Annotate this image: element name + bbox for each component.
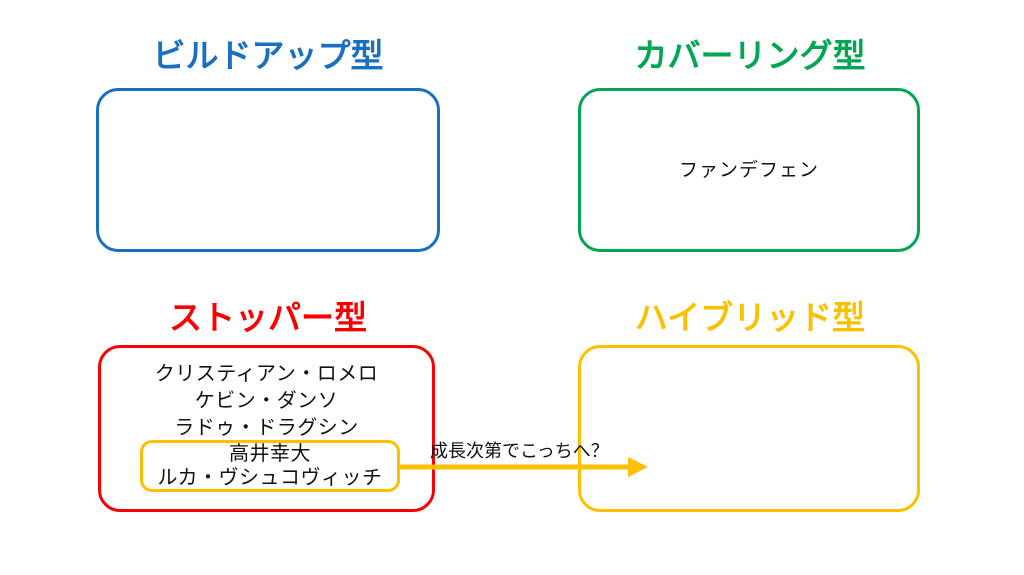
diagram-canvas: ビルドアップ型 カバーリング型 ファンデフェン ストッパー型 クリスティアン・ロ… [0, 0, 1024, 575]
player-name: ラドゥ・ドラグシン [101, 415, 432, 442]
player-list-covering: ファンデフェン [581, 91, 917, 249]
player-name: ルカ・ヴシュコヴィッチ [158, 466, 383, 490]
player-name: ケビン・ダンソ [101, 388, 432, 415]
quadrant-box-hybrid [578, 345, 920, 512]
quadrant-title-stopper: ストッパー型 [88, 301, 448, 334]
quadrant-box-buildup [96, 88, 440, 252]
quadrant-title-buildup: ビルドアップ型 [88, 39, 448, 72]
player-name: クリスティアン・ロメロ [101, 361, 432, 388]
transition-arrow-label: 成長次第でこっちへ？ [430, 437, 609, 463]
player-list-stopper: クリスティアン・ロメロ ケビン・ダンソ ラドゥ・ドラグシン [101, 361, 432, 442]
quadrant-title-covering: カバーリング型 [570, 39, 930, 72]
player-name: ファンデフェン [679, 157, 819, 184]
quadrant-title-hybrid: ハイブリッド型 [570, 301, 930, 334]
quadrant-box-covering: ファンデフェン [578, 88, 920, 252]
player-name: 高井幸大 [229, 442, 311, 466]
highlighted-player-group: 高井幸大 ルカ・ヴシュコヴィッチ [140, 440, 400, 492]
